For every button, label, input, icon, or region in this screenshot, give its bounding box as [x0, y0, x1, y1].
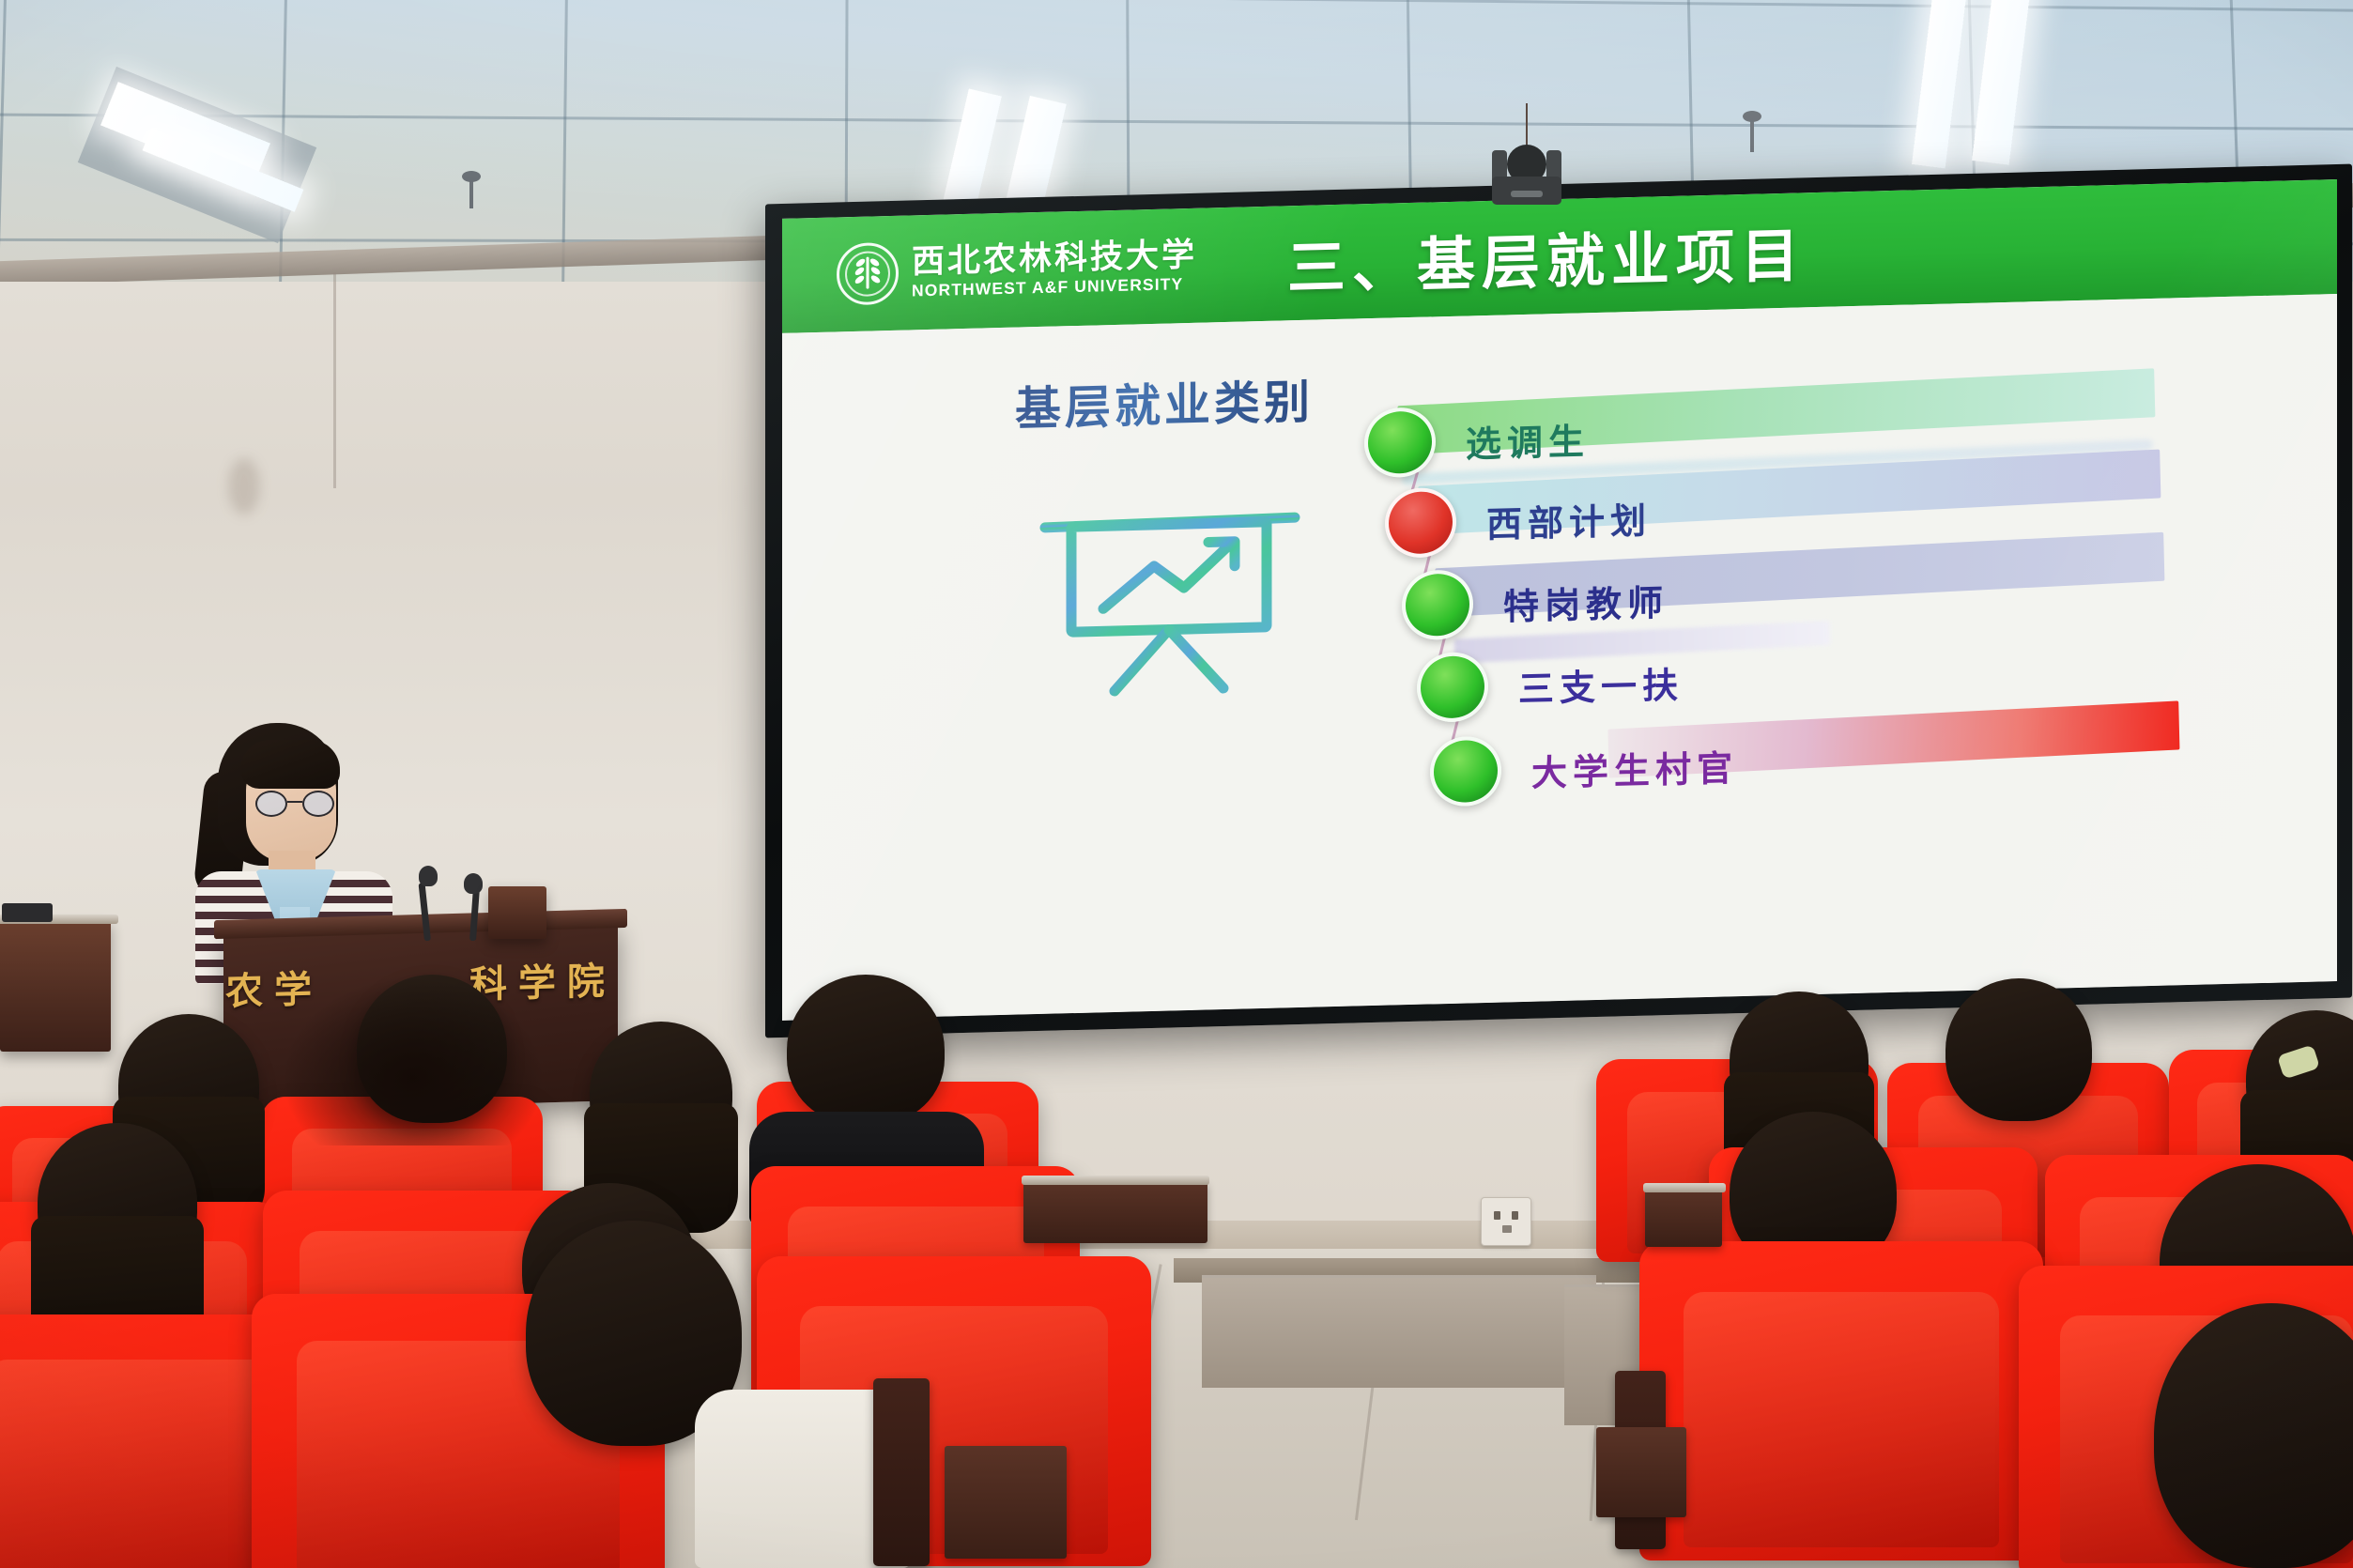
ptz-camera — [1486, 143, 1567, 205]
category-list: 选调生 西部计划 特岗教师 — [1364, 385, 2318, 935]
category-marker-1 — [1364, 407, 1436, 478]
category-item-5[interactable]: 大学生村官 — [1430, 730, 1738, 807]
university-name-en: NORTHWEST A&F UNIVERSITY — [912, 276, 1197, 300]
category-item-4[interactable]: 三支一扶 — [1417, 647, 1684, 723]
university-logo: 西北农林科技大学 NORTHWEST A&F UNIVERSITY — [837, 235, 1197, 306]
attendee-head-5 — [1730, 992, 1869, 1130]
microphone-head-2 — [464, 873, 483, 894]
camera-led-strip — [1511, 191, 1543, 197]
podium-shadow — [282, 976, 545, 1145]
wheat-emblem-icon — [837, 242, 899, 306]
lecture-hall-photo: 西北农林科技大学 NORTHWEST A&F UNIVERSITY 三、基层就业… — [0, 0, 2353, 1568]
camera-cable — [1526, 103, 1528, 146]
category-label-4: 三支一扶 — [1518, 655, 1684, 711]
category-marker-2 — [1385, 487, 1456, 559]
category-label-3: 特岗教师 — [1503, 574, 1669, 629]
university-name-block: 西北农林科技大学 NORTHWEST A&F UNIVERSITY — [912, 238, 1197, 300]
category-marker-5 — [1430, 736, 1501, 807]
attendee-head-6 — [1945, 978, 2092, 1121]
podium-side-panel — [488, 886, 546, 939]
wall-power-outlet — [1481, 1197, 1531, 1246]
seat-tray-3 — [1596, 1427, 1686, 1517]
attendee-head-8 — [38, 1123, 197, 1283]
presentation-board-chart-icon — [1028, 487, 1310, 711]
console-device — [2, 903, 53, 922]
category-item-3[interactable]: 特岗教师 — [1402, 564, 1669, 640]
seat-tray-1-edge — [1022, 1176, 1209, 1185]
category-label-5: 大学生村官 — [1531, 739, 1738, 796]
university-name-cn: 西北农林科技大学 — [912, 238, 1197, 279]
seat-tray-1 — [1023, 1181, 1207, 1243]
control-console — [0, 920, 111, 1052]
category-label-2: 西部计划 — [1486, 491, 1652, 546]
presenter-fringe — [240, 740, 340, 789]
glasses-icon — [255, 791, 334, 817]
stage-riser-left — [1202, 1275, 1596, 1388]
slide-title: 三、基层就业项目 — [1287, 208, 1806, 305]
slide-body: 基层就业类别 — [782, 294, 2337, 1021]
projection-screen-bezel: 西北农林科技大学 NORTHWEST A&F UNIVERSITY 三、基层就业… — [765, 164, 2352, 1038]
category-marker-4 — [1417, 652, 1488, 723]
seat-tray-2-edge — [1643, 1183, 1726, 1192]
microphone-head-1 — [419, 866, 438, 886]
seat-r3-c4 — [1639, 1241, 2043, 1560]
attendee-head-3 — [590, 1022, 732, 1162]
seat-tray-2 — [1645, 1189, 1722, 1247]
wheat-glyph — [858, 256, 877, 291]
seat-armrest-1 — [873, 1378, 930, 1566]
attendee-head-4 — [787, 975, 945, 1125]
projection-screen[interactable]: 西北农林科技大学 NORTHWEST A&F UNIVERSITY 三、基层就业… — [782, 179, 2337, 1021]
wall-mark-1 — [228, 458, 260, 515]
category-label-1: 选调生 — [1466, 412, 1590, 467]
category-item-2[interactable]: 西部计划 — [1385, 482, 1652, 558]
wall-seam-1 — [333, 272, 336, 488]
slide-subtitle: 基层就业类别 — [1015, 365, 1314, 439]
seat-tray-4 — [945, 1446, 1067, 1559]
category-marker-3 — [1402, 569, 1473, 640]
